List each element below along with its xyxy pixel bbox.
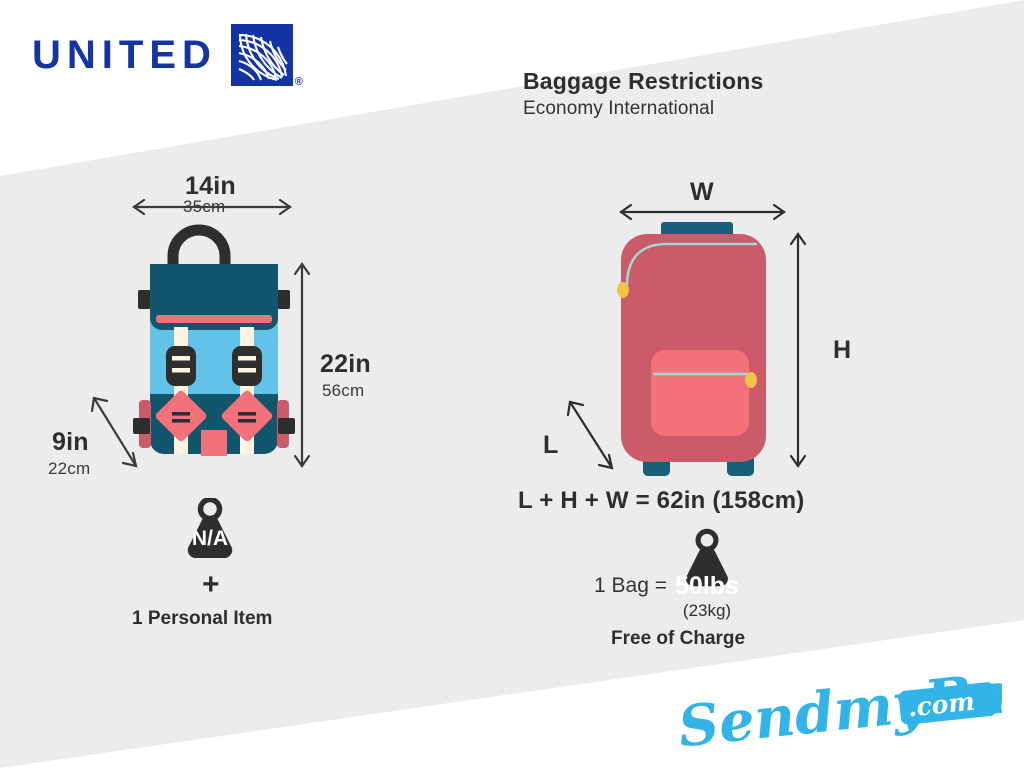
checked-fee-note: Free of Charge [611, 628, 745, 650]
sendmybag-logo[interactable]: SendmyBag .com [672, 672, 1002, 754]
carryon-plus-sign: + [202, 570, 220, 600]
carryon-height-imperial: 22in [320, 350, 371, 379]
united-globe-icon: ® [231, 24, 293, 86]
carryon-depth-arrow [86, 390, 144, 474]
checked-height-label: H [833, 336, 851, 365]
carryon-weight-value: N/A [186, 527, 234, 551]
carryon-depth-metric: 22cm [48, 459, 90, 479]
checked-height-arrow [789, 228, 807, 472]
checked-weight-value: 50lbs [662, 572, 752, 601]
checked-weight-metric: (23kg) [662, 601, 752, 621]
page-title: Baggage Restrictions [523, 68, 763, 94]
infographic-canvas: UNITED [0, 0, 1024, 768]
carryon-extra-allowance: 1 Personal Item [132, 608, 272, 630]
checked-length-arrow [562, 394, 620, 476]
carryon-height-metric: 56cm [322, 381, 364, 401]
backpack-icon [128, 222, 300, 490]
checked-bag-count: 1 Bag = [594, 574, 667, 598]
title-block: Baggage Restrictions Economy Internation… [523, 68, 763, 120]
carryon-depth-imperial: 9in [52, 428, 89, 457]
united-wordmark: UNITED [32, 35, 217, 75]
carryon-width-metric: 35cm [183, 197, 225, 217]
suitcase-icon [605, 222, 770, 480]
checked-width-arrow [615, 203, 790, 221]
carryon-height-arrow [293, 258, 311, 472]
checked-dimension-formula: L + H + W = 62in (158cm) [518, 487, 804, 515]
header: UNITED [0, 0, 1024, 175]
checked-length-label: L [543, 431, 558, 460]
trademark-symbol: ® [295, 76, 303, 88]
page-subtitle: Economy International [523, 98, 763, 120]
united-airlines-logo: UNITED [32, 24, 293, 86]
